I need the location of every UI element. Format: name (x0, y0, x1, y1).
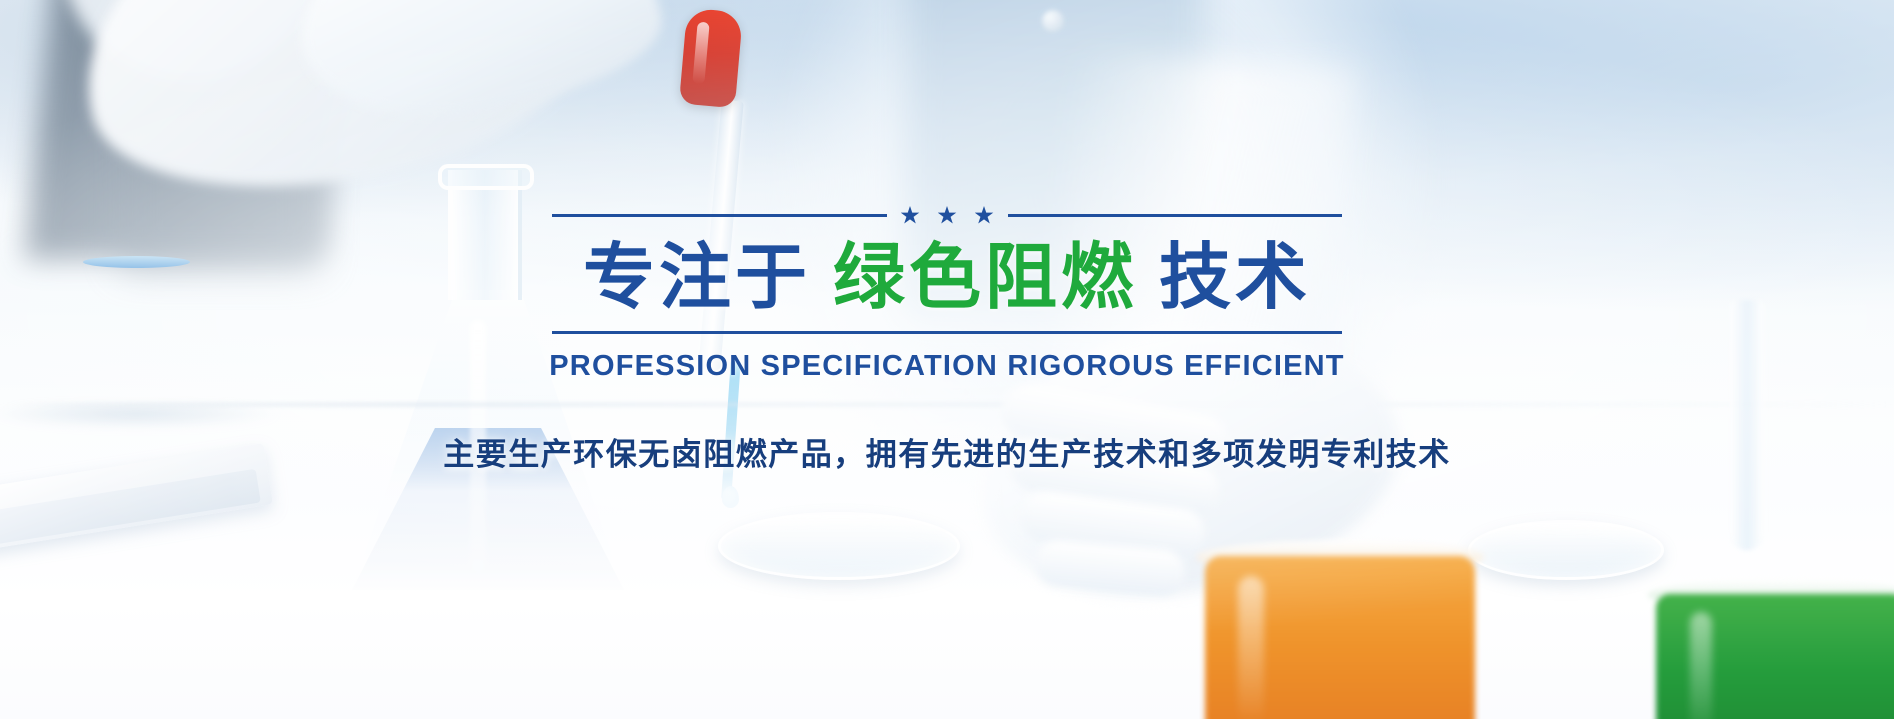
hero-banner: 专注于 绿色阻燃 技术 PROFESSION SPECIFICATION RIG… (0, 0, 1894, 719)
headline-part-1: 专注于 (583, 239, 811, 315)
star-icon (901, 206, 920, 225)
rule-right (1008, 214, 1343, 217)
page-title: 专注于 绿色阻燃 技术 (583, 239, 1311, 315)
star-group (901, 206, 994, 225)
headline-underline (552, 331, 1342, 334)
rule-left (552, 214, 887, 217)
banner-content: 专注于 绿色阻燃 技术 PROFESSION SPECIFICATION RIG… (0, 0, 1894, 719)
star-icon (938, 206, 957, 225)
decorative-rule-row (552, 206, 1342, 225)
banner-tagline: 主要生产环保无卤阻燃产品，拥有先进的生产技术和多项发明专利技术 (443, 429, 1451, 474)
headline-part-2: 绿色阻燃 (833, 239, 1137, 315)
banner-subtitle: PROFESSION SPECIFICATION RIGOROUS EFFICI… (549, 350, 1344, 383)
headline-part-3: 技术 (1159, 239, 1311, 315)
star-icon (975, 206, 994, 225)
